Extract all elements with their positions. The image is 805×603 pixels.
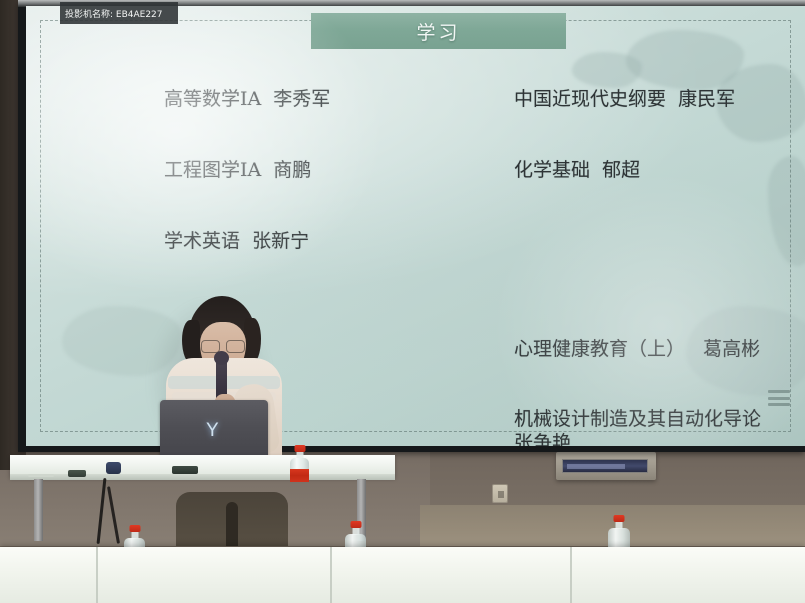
classroom-scene: 学习 高等数学IA 李秀军 工程图学IA 商鹏 学术英语 张新宁 中国近现代史纲… xyxy=(0,0,805,603)
menu-line xyxy=(768,397,790,400)
course-list-left: 高等数学IA 李秀军 工程图学IA 商鹏 学术英语 张新宁 xyxy=(164,88,494,300)
water-bottle[interactable] xyxy=(290,445,309,481)
slide-title: 学习 xyxy=(416,18,460,45)
course-instructor: 张争艳 xyxy=(514,432,805,446)
bottle-cap xyxy=(614,515,625,522)
remote-control[interactable] xyxy=(172,466,198,474)
course-item: 化学基础 郁超 xyxy=(514,159,805,183)
ac-vent-icon xyxy=(562,459,648,473)
menu-line xyxy=(768,403,790,406)
table-seam xyxy=(570,547,572,603)
air-conditioner-unit xyxy=(556,452,656,480)
course-item: 心理健康教育（上） 葛高彬 xyxy=(514,338,805,362)
projector-name-overlay: 投影机名称: EB4AE227 xyxy=(60,2,178,24)
course-item: 工程图学IA 商鹏 xyxy=(164,159,494,183)
course-item: 学术英语 张新宁 xyxy=(164,230,494,254)
pen[interactable] xyxy=(28,474,54,477)
course-item: 中国近现代史纲要 康民军 xyxy=(514,88,805,112)
desk-gadget[interactable] xyxy=(106,462,121,474)
projected-slide[interactable]: 学习 高等数学IA 李秀军 工程图学IA 商鹏 学术英语 张新宁 中国近现代史纲… xyxy=(26,6,805,446)
student-table xyxy=(0,547,805,603)
slide-title-banner: 学习 xyxy=(311,13,566,49)
table-seam xyxy=(96,547,98,603)
laptop-lid[interactable] xyxy=(160,400,268,458)
menu-line xyxy=(768,390,790,393)
course-item: 高等数学IA 李秀军 xyxy=(164,88,494,112)
desk-leg xyxy=(34,479,43,541)
bottle-label xyxy=(290,469,309,482)
course-title: 机械设计制造及其自动化导论 xyxy=(514,408,805,432)
wall-outlet-icon xyxy=(492,484,508,503)
projector-name-text: 投影机名称: EB4AE227 xyxy=(65,7,163,20)
bottle-cap xyxy=(350,521,361,528)
course-list-right: 中国近现代史纲要 康民军 化学基础 郁超 心理健康教育（上） 葛高彬 机械设计制… xyxy=(514,88,805,446)
column-spacer xyxy=(514,230,805,338)
bottle-cap xyxy=(294,445,305,452)
hamburger-menu-icon[interactable] xyxy=(768,390,790,406)
bottle-cap xyxy=(129,525,140,532)
table-seam xyxy=(330,547,332,603)
remote-control[interactable] xyxy=(68,470,86,477)
course-item: 机械设计制造及其自动化导论 张争艳 xyxy=(514,408,805,446)
glasses-icon xyxy=(200,340,246,351)
